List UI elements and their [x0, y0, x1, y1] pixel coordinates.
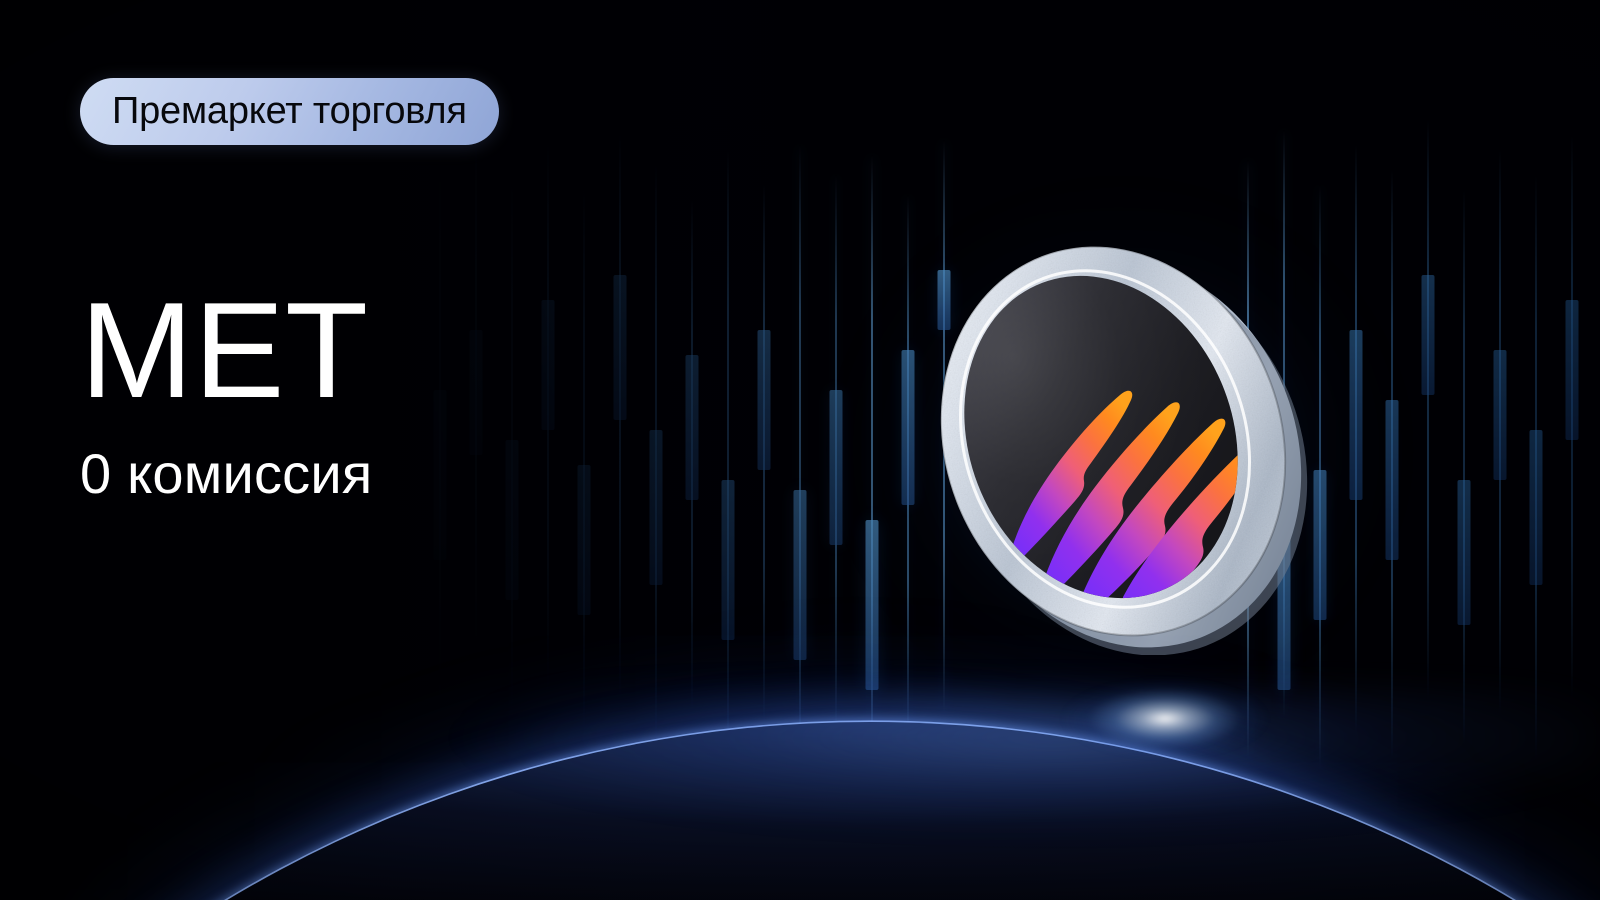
premarket-badge-label: Премаркет торговля: [112, 90, 467, 133]
premarket-badge[interactable]: Премаркет торговля: [80, 78, 499, 145]
promo-banner: Премаркет торговля MET 0 комиссия: [0, 0, 1600, 900]
token-ticker-headline: MET: [80, 282, 369, 418]
zero-fee-subline: 0 комиссия: [80, 443, 372, 505]
